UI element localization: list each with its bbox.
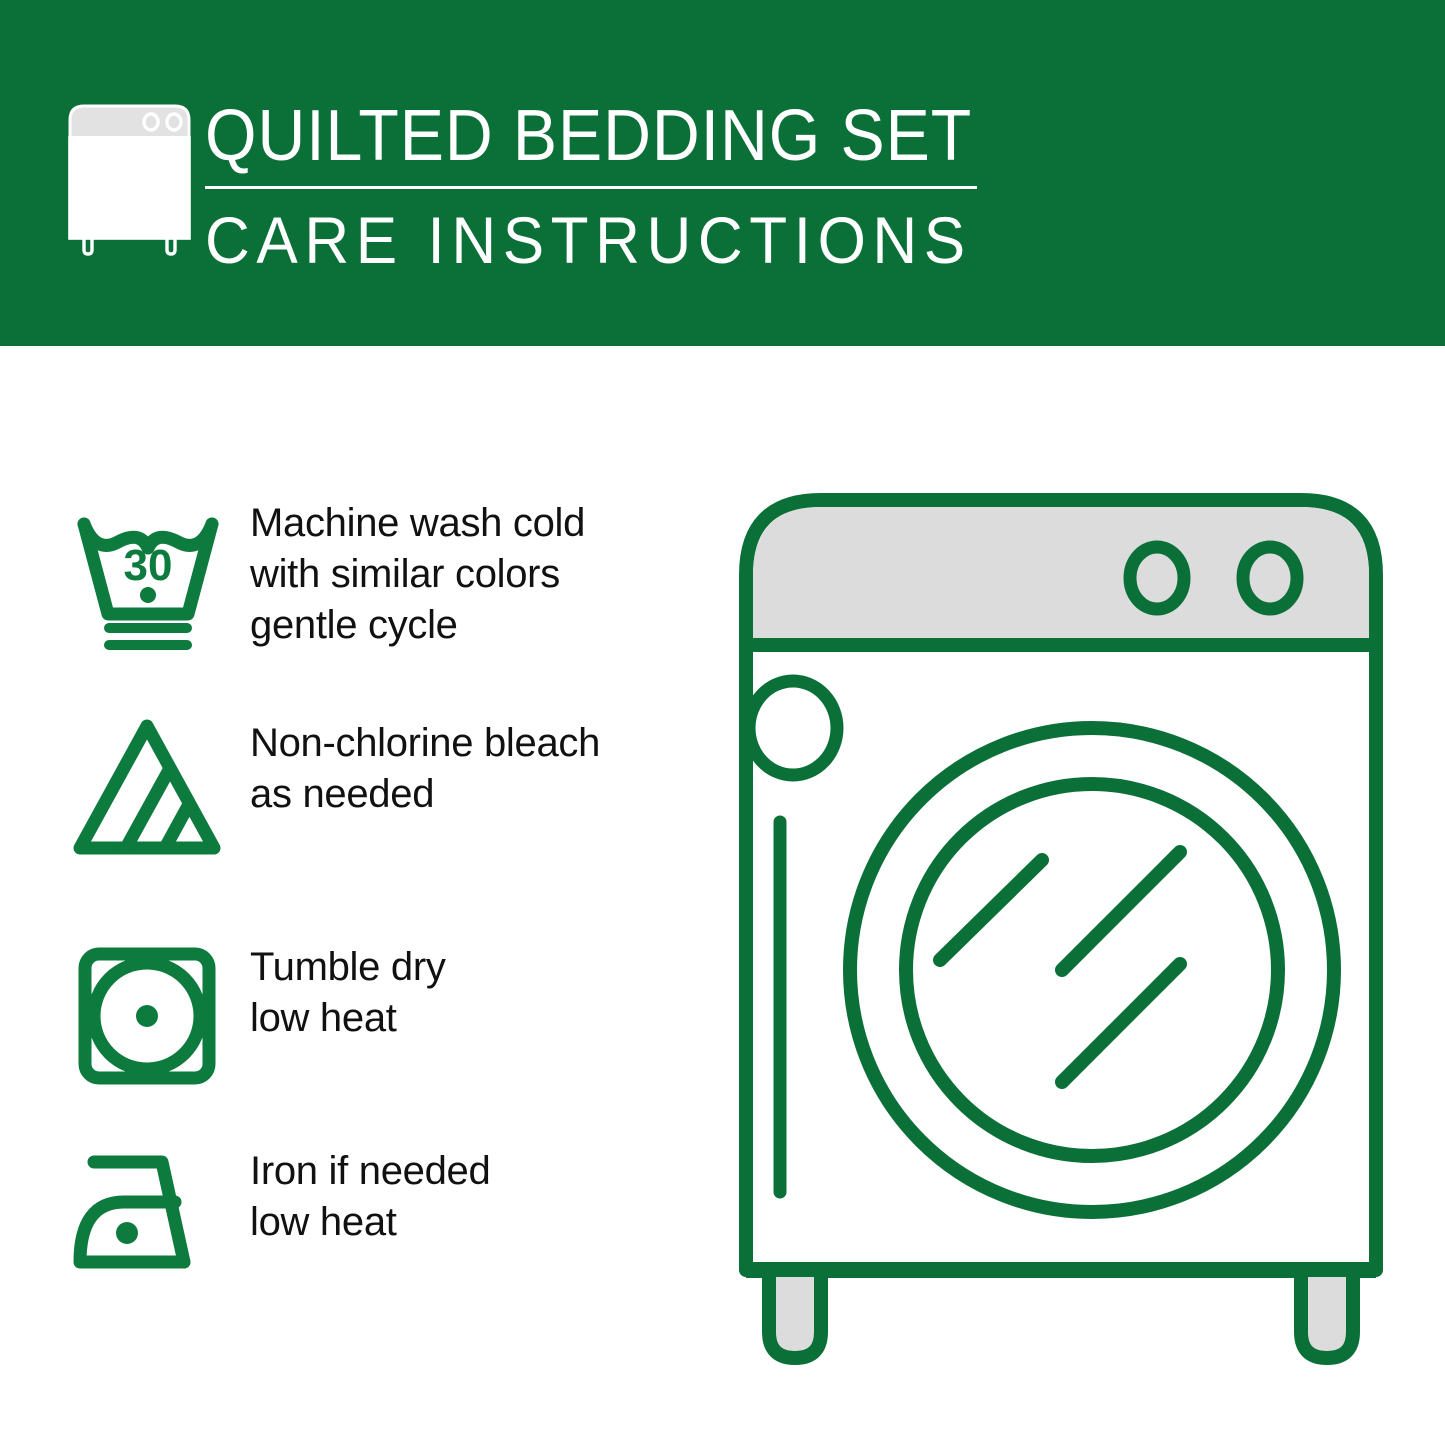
care-instruction-text-wash: Machine wash cold with similar colors ge… (250, 492, 585, 652)
iron-icon (62, 1140, 232, 1305)
header-band: QUILTED BEDDING SET CARE INSTRUCTIONS (0, 0, 1445, 346)
care-instruction-text-bleach: Non-chlorine bleach as needed (250, 712, 600, 820)
bleach-triangle-icon (62, 712, 232, 877)
care-instruction-text-iron: Iron if needed low heat (250, 1140, 490, 1248)
wash-tub-icon: 30 (62, 492, 232, 657)
wash-temperature-label: 30 (124, 541, 173, 590)
tumble-dry-icon (62, 936, 232, 1101)
header-divider (205, 186, 977, 189)
care-instruction-row-bleach: Non-chlorine bleach as needed (62, 712, 600, 877)
header-text-block: QUILTED BEDDING SET CARE INSTRUCTIONS (205, 100, 995, 273)
washing-machine-icon (62, 98, 197, 258)
page-title: QUILTED BEDDING SET (205, 100, 932, 172)
front-load-washing-machine-illustration (716, 470, 1406, 1380)
care-instruction-row-tumble-dry: Tumble dry low heat (62, 936, 446, 1101)
page-subtitle: CARE INSTRUCTIONS (205, 207, 948, 273)
care-instruction-row-iron: Iron if needed low heat (62, 1140, 490, 1305)
care-instruction-row-wash: 30 Machine wash cold with similar colors… (62, 492, 585, 657)
care-instruction-text-tumble-dry: Tumble dry low heat (250, 936, 446, 1044)
care-instructions-page: QUILTED BEDDING SET CARE INSTRUCTIONS 30 (0, 0, 1445, 1445)
